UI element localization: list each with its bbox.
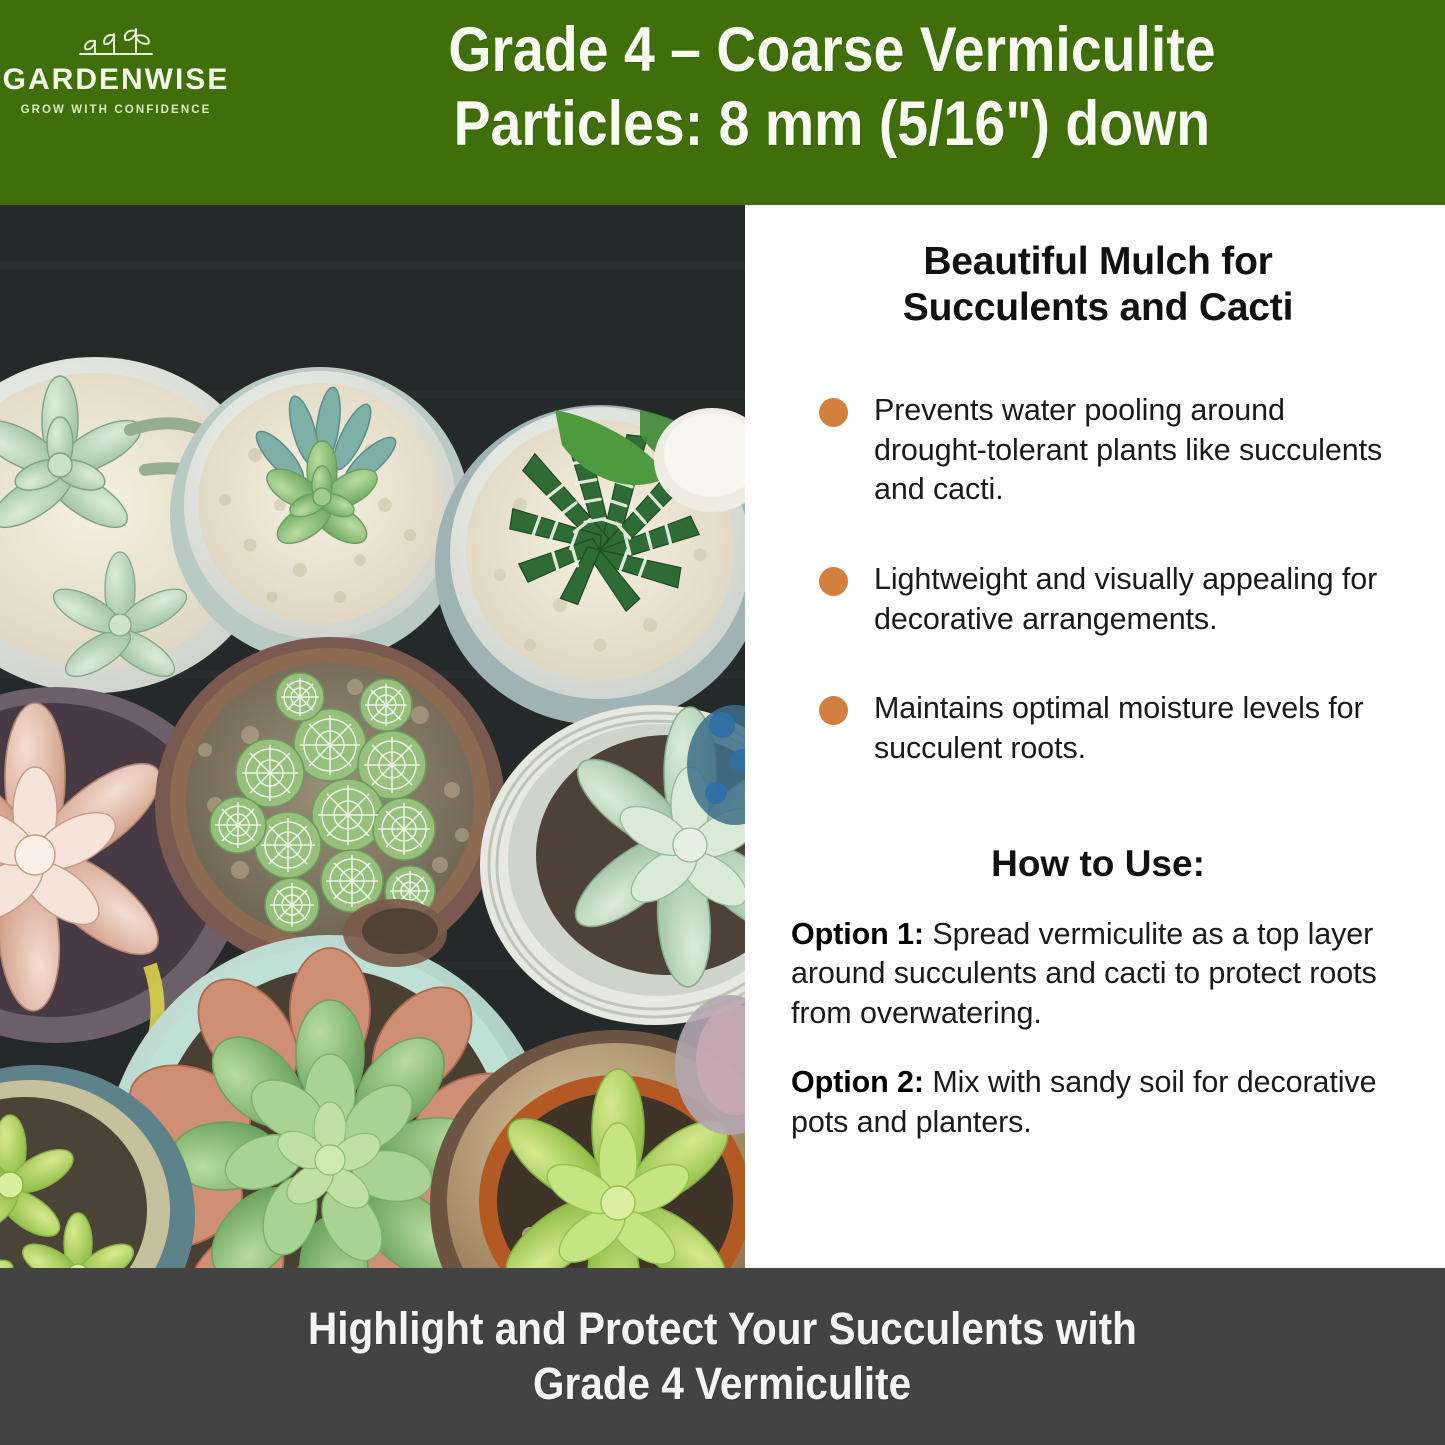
benefit-text: Prevents water pooling around drought-to… <box>874 391 1405 510</box>
panel-headline-line-1: Beautiful Mulch for <box>923 240 1272 283</box>
bullet-dot-icon <box>819 696 848 725</box>
sprouting-seedlings-icon <box>68 16 164 62</box>
brand-logo: GARDENWISE GROW WITH CONFIDENCE <box>0 0 232 205</box>
bullet-dot-icon <box>819 398 848 427</box>
footer-line-2: Grade 4 Vermiculite <box>533 1357 911 1412</box>
product-infographic: GARDENWISE GROW WITH CONFIDENCE Grade 4 … <box>0 0 1445 1445</box>
bullet-dot-icon <box>819 567 848 596</box>
brand-tagline: GROW WITH CONFIDENCE <box>21 105 212 117</box>
brand-name: GARDENWISE <box>3 65 230 95</box>
benefit-item: Maintains optimal moisture levels for su… <box>791 689 1405 768</box>
panel-headline-line-2: Succulents and Cacti <box>903 286 1293 329</box>
panel-headline: Beautiful Mulch for Succulents and Cacti <box>797 239 1399 331</box>
footer-line-1: Highlight and Protect Your Succulents wi… <box>308 1302 1137 1357</box>
header-title-line-1: Grade 4 – Coarse Vermiculite <box>448 14 1215 88</box>
benefit-text: Maintains optimal moisture levels for su… <box>874 689 1405 768</box>
succulents-photo-illustration <box>0 205 745 1268</box>
usage-option-1-label: Option 1: <box>791 917 924 951</box>
usage-option-1: Option 1: Spread vermiculite as a top la… <box>791 915 1405 1034</box>
benefits-panel: Beautiful Mulch for Succulents and Cacti… <box>745 205 1445 1268</box>
benefit-list: Prevents water pooling around drought-to… <box>791 391 1405 768</box>
how-to-use-heading: How to Use: <box>791 843 1405 885</box>
benefit-item: Lightweight and visually appealing for d… <box>791 560 1405 639</box>
header-title-line-2: Particles: 8 mm (5/16") down <box>453 88 1209 162</box>
header-banner: GARDENWISE GROW WITH CONFIDENCE Grade 4 … <box>0 0 1445 205</box>
usage-option-2-label: Option 2: <box>791 1065 924 1099</box>
succulents-photo <box>0 205 745 1268</box>
usage-option-2: Option 2: Mix with sandy soil for decora… <box>791 1063 1405 1142</box>
header-title-group: Grade 4 – Coarse Vermiculite Particles: … <box>232 0 1445 161</box>
benefit-item: Prevents water pooling around drought-to… <box>791 391 1405 510</box>
benefit-text: Lightweight and visually appealing for d… <box>874 560 1405 639</box>
footer-banner: Highlight and Protect Your Succulents wi… <box>0 1268 1445 1445</box>
